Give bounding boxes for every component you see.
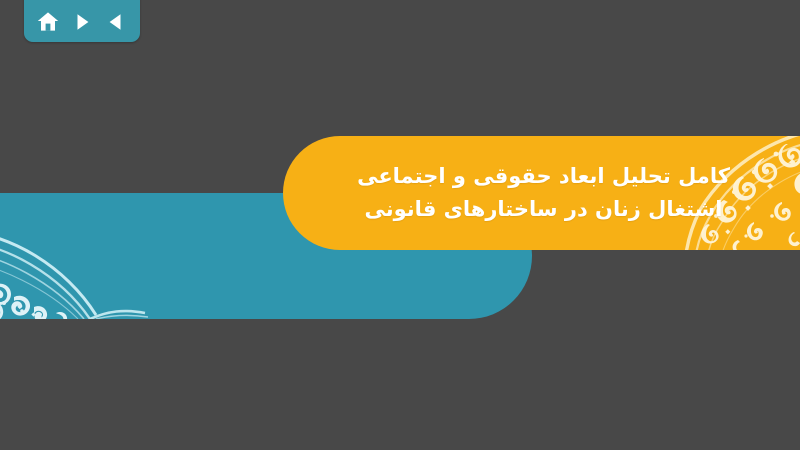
slide-canvas: کامل تحلیل ابعاد حقوقی و اجتماعی اشتغال … — [0, 0, 800, 450]
title-banner: کامل تحلیل ابعاد حقوقی و اجتماعی اشتغال … — [283, 136, 800, 250]
arabesque-corner-ornament-teal — [0, 227, 160, 319]
triangle-right-icon — [71, 11, 93, 33]
navigation-bar — [24, 0, 140, 42]
home-icon — [36, 10, 60, 34]
title-line-2: اشتغال زنان در ساختارهای قانونی — [365, 193, 723, 226]
home-button[interactable] — [35, 9, 61, 35]
next-slide-button[interactable] — [69, 9, 95, 35]
title-line-1: کامل تحلیل ابعاد حقوقی و اجتماعی — [357, 160, 730, 193]
title-text-block: کامل تحلیل ابعاد حقوقی و اجتماعی اشتغال … — [283, 136, 800, 250]
triangle-left-icon — [105, 11, 127, 33]
previous-slide-button[interactable] — [103, 9, 129, 35]
